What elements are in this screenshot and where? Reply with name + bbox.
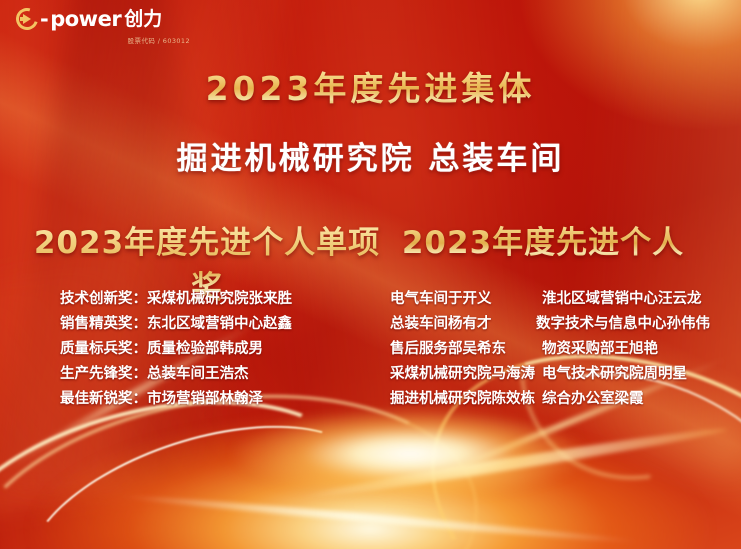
individual-name: 售后服务部吴希东 [390,337,542,362]
special-awards-list: 技术创新奖：采煤机械研究院张来胜 销售精英奖：东北区域营销中心赵鑫 质量标兵奖：… [60,287,360,412]
logo-row: - power 创力 [16,8,196,30]
list-item: 掘进机械研究院陈效栋 综合办公室梁霞 [390,387,710,412]
individual-name: 掘进机械研究院陈效栋 [390,387,542,412]
logo-wordmark-cn: 创力 [124,10,162,29]
list-item: 质量标兵奖：质量检验部韩成男 [60,337,360,362]
list-item: 销售精英奖：东北区域营销中心赵鑫 [60,312,360,337]
page-title: 2023年度先进集体 [0,62,741,110]
list-item: 电气车间于开义 淮北区域营销中心汪云龙 [390,287,710,312]
individual-name: 总装车间杨有才 [390,312,536,337]
section-heading-individuals: 2023年度先进个人 [398,217,688,262]
individual-name: 采煤机械研究院马海涛 [390,362,542,387]
individual-name: 综合办公室梁霞 [542,387,710,412]
award-poster: - power 创力 股票代码 / 603012 2023年度先进集体 掘进机械… [0,0,741,549]
c-power-logo-icon [16,8,38,30]
list-item: 总装车间杨有才 数字技术与信息中心孙伟伟 [390,312,710,337]
collective-winners-subtitle: 掘进机械研究院 总装车间 [0,133,741,178]
individual-name: 电气车间于开义 [390,287,542,312]
individual-name: 数字技术与信息中心孙伟伟 [536,312,710,337]
list-item: 采煤机械研究院马海涛 电气技术研究院周明星 [390,362,710,387]
stock-code-label: 股票代码 / 603012 [16,35,196,45]
list-item: 生产先锋奖：总装车间王浩杰 [60,362,360,387]
individual-name: 电气技术研究院周明星 [542,362,710,387]
logo-wordmark-prefix: - [40,9,48,30]
company-logo: - power 创力 股票代码 / 603012 [16,8,196,45]
individuals-list: 电气车间于开义 淮北区域营销中心汪云龙 总装车间杨有才 数字技术与信息中心孙伟伟… [390,287,710,412]
bottom-light-core [230,399,590,509]
individual-name: 物资采购部王旭艳 [542,337,710,362]
list-item: 技术创新奖：采煤机械研究院张来胜 [60,287,360,312]
list-item: 售后服务部吴希东 物资采购部王旭艳 [390,337,710,362]
individual-name: 淮北区域营销中心汪云龙 [542,287,710,312]
logo-wordmark: power [50,9,121,30]
list-item: 最佳新锐奖：市场营销部林翰泽 [60,387,360,412]
